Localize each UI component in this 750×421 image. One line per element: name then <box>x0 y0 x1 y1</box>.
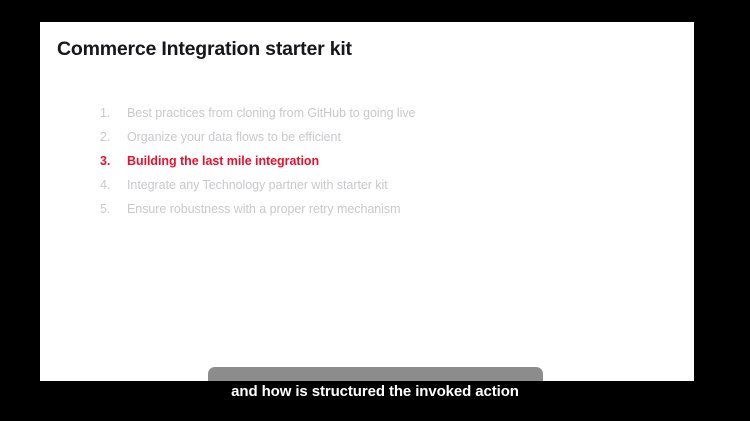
list-item-active: 3. Building the last mile integration <box>100 154 415 178</box>
list-item-label: Organize your data flows to be efficient <box>127 130 341 144</box>
list-item: 5. Ensure robustness with a proper retry… <box>100 202 415 226</box>
list-item-number: 1. <box>100 106 127 120</box>
list-item-number: 4. <box>100 178 127 192</box>
page-title: Commerce Integration starter kit <box>57 38 352 61</box>
list-item-number: 5. <box>100 202 127 216</box>
list-item-label: Ensure robustness with a proper retry me… <box>127 202 400 216</box>
list-item: 2. Organize your data flows to be effici… <box>100 130 415 154</box>
list-item: 1. Best practices from cloning from GitH… <box>100 106 415 130</box>
list-item-number: 2. <box>100 130 127 144</box>
list-item-label: Building the last mile integration <box>127 154 319 168</box>
caption-text: and how is structured the invoked action <box>0 383 750 400</box>
list-item: 4. Integrate any Technology partner with… <box>100 178 415 202</box>
list-item-label: Integrate any Technology partner with st… <box>127 178 388 192</box>
agenda-list: 1. Best practices from cloning from GitH… <box>100 106 415 226</box>
video-frame: Commerce Integration starter kit 1. Best… <box>0 0 750 421</box>
list-item-label: Best practices from cloning from GitHub … <box>127 106 415 120</box>
list-item-number: 3. <box>100 154 127 168</box>
presentation-slide: Commerce Integration starter kit 1. Best… <box>40 22 694 385</box>
